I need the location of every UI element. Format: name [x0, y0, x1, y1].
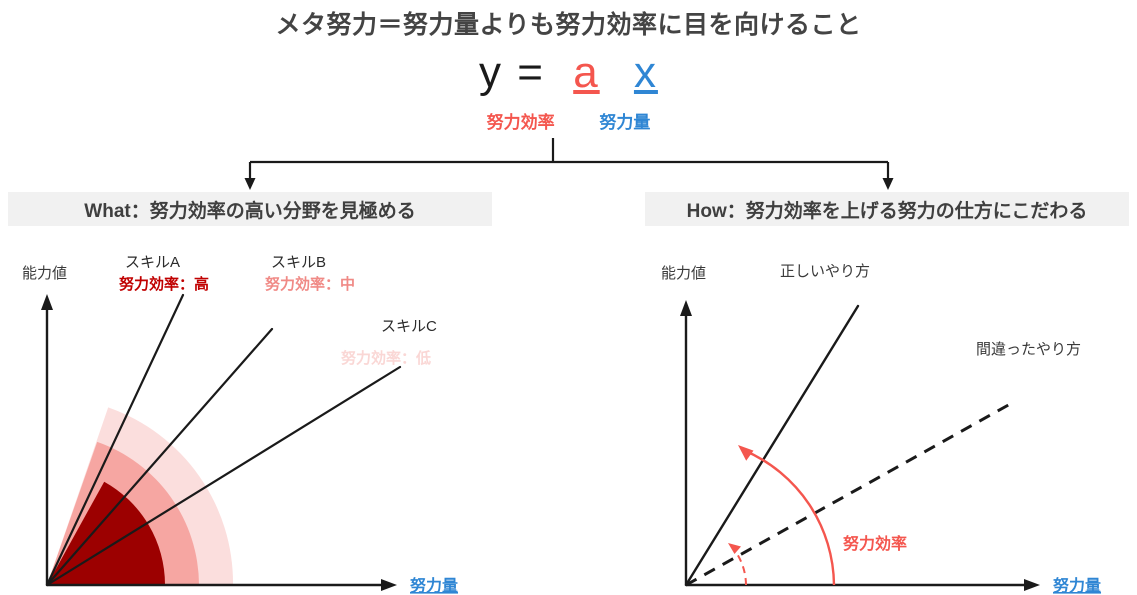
page-title: メタ努力＝努力量よりも努力効率に目を向けること [0, 5, 1137, 41]
slide-root: メタ努力＝努力量よりも努力効率に目を向けること y = a x 努力効率 努力量… [0, 0, 1137, 595]
formula-a: a [573, 48, 599, 97]
label-skill-a-efficiency: 努力効率：高 [119, 275, 209, 293]
label-wrong-way: 間違ったやり方 [976, 341, 1081, 358]
y-axis-arrowhead-left [41, 294, 53, 310]
connector-svg [0, 138, 1137, 194]
branch-connector [0, 138, 1137, 194]
label-angle-efficiency: 努力効率 [843, 534, 907, 553]
formula-y: y [479, 48, 503, 97]
chart-how: 能力値 努力量 正しいやり方 間違ったやり方 努力効率 [640, 236, 1137, 595]
chart-what: 能力値 努力量 スキルA 努力効率：高 スキルB 努力効率：中 スキルC 努力効… [0, 236, 560, 595]
formula-legend: 努力効率 努力量 [0, 108, 1137, 133]
formula-x: x [634, 48, 658, 97]
formula-x-caption: 努力量 [599, 113, 650, 132]
label-skill-a-name: スキルA [125, 254, 180, 271]
formula: y = a x [0, 48, 1137, 98]
angle-arc-small-arrowhead [728, 543, 741, 554]
y-axis-arrowhead-right [680, 300, 692, 316]
connector-right-arrowhead [883, 178, 894, 190]
x-axis-arrowhead-left [381, 579, 397, 591]
formula-a-caption: 努力効率 [487, 113, 555, 132]
panel-header-what: What：努力効率の高い分野を見極める [8, 192, 492, 226]
line-correct-way [686, 306, 858, 585]
angle-arc-efficiency [745, 451, 835, 586]
label-skill-b-name: スキルB [271, 254, 326, 271]
formula-equals: = [517, 48, 545, 97]
label-skill-b-efficiency: 努力効率：中 [265, 275, 355, 293]
y-axis-label-right: 能力値 [661, 265, 706, 282]
label-correct-way: 正しいやり方 [780, 263, 870, 280]
line-wrong-way [686, 403, 1012, 585]
x-axis-arrowhead-right [1024, 579, 1040, 591]
y-axis-label-left: 能力値 [22, 265, 67, 282]
x-axis-label-right: 努力量 [1053, 576, 1101, 595]
label-skill-c-name: スキルC [381, 318, 437, 335]
label-skill-c-efficiency: 努力効率：低 [341, 349, 431, 367]
x-axis-label-left: 努力量 [410, 576, 458, 595]
connector-left-arrowhead [245, 178, 256, 190]
angle-arc-arrowhead [738, 445, 754, 461]
panel-header-how: How：努力効率を上げる努力の仕方にこだわる [645, 192, 1129, 226]
